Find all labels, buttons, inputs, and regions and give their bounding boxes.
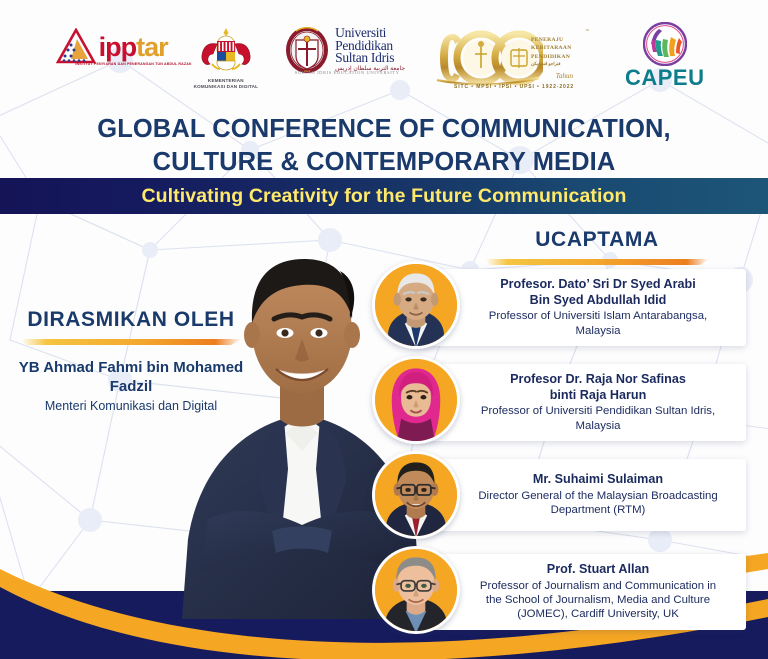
speaker-name: Mr. Suhaimi Sulaiman — [533, 472, 663, 488]
upsi-caption: SULTAN IDRIS EDUCATION UNIVERSITY — [284, 70, 410, 75]
opening-heading: DIRASMIKAN OLEH — [0, 308, 262, 332]
keynote-speaker-list: Profesor. Dato’ Sri Dr Syed Arabi Bin Sy… — [368, 261, 768, 641]
speaker-affiliation: Professor of Universiti Pendidikan Sulta… — [481, 404, 715, 433]
conference-poster: ipptar INSTITUT PENYIARAN DAN PENERANGAN… — [0, 0, 768, 659]
ministry-of-communications-and-digital-logo: KEMENTERIAN KOMUNIKASI DAN DIGITAL — [194, 22, 259, 90]
centenary-100-logo: PENERAJU KEBITARAAN PENDIDIKAN فنراجو ڤن… — [431, 22, 591, 100]
title-line-2: CULTURE & CONTEMPORARY MEDIA — [0, 146, 768, 179]
centenary-tahun-text: Tahun — [556, 72, 573, 80]
jata-negara-crest-icon — [195, 24, 257, 76]
speaker-name: Profesor Dr. Raja Nor Safinas binti Raja… — [510, 372, 686, 403]
centenary-jawi-text: فنراجو ڤنديديکن — [531, 61, 587, 68]
upsi-crest-icon: 1922 — [284, 26, 330, 74]
speaker-name: Prof. Stuart Allan — [547, 562, 649, 578]
opening-person-role: Menteri Komunikasi dan Digital — [0, 399, 262, 413]
upsi-logo: 1922 Universiti Pendidikan Sultan Idris … — [284, 22, 405, 74]
speaker-photo-raja-nor-safinas — [372, 356, 460, 444]
speaker-card: Profesor Dr. Raja Nor Safinas binti Raja… — [416, 364, 746, 441]
logo-strip: ipptar INSTITUT PENYIARAN DAN PENERANGAN… — [0, 22, 768, 108]
speaker-row: Mr. Suhaimi Sulaiman Director General of… — [368, 451, 768, 546]
capeu-emblem-icon — [643, 22, 687, 66]
opening-heading-underline — [20, 339, 242, 345]
speaker-photo-stuart-allan — [372, 546, 460, 634]
capeu-logo: CAPEU CENTRE FOR ACADEMIC EXCELLENCE MAL… — [617, 22, 712, 94]
speaker-photo-suhaimi-sulaiman — [372, 451, 460, 539]
main-content: DIRASMIKAN OLEH YB Ahmad Fahmi bin Moham… — [0, 214, 768, 659]
ipptar-logo: ipptar INSTITUT PENYIARAN DAN PENERANGAN… — [56, 22, 168, 66]
opening-person-name: YB Ahmad Fahmi bin Mohamed Fadzil — [0, 358, 262, 396]
speaker-card: Prof. Stuart Allan Professor of Journali… — [416, 554, 746, 630]
speaker-name: Profesor. Dato’ Sri Dr Syed Arabi Bin Sy… — [500, 277, 696, 308]
opening-section: DIRASMIKAN OLEH YB Ahmad Fahmi bin Moham… — [0, 308, 262, 413]
page-title: GLOBAL CONFERENCE OF COMMUNICATION, CULT… — [0, 113, 768, 178]
centenary-tagline: PENERAJU KEBITARAAN PENDIDIKAN فنراجو ڤن… — [531, 36, 587, 68]
centenary-years: SITC • MPSI • IPSI • UPSI • 1922-2022 — [439, 84, 589, 90]
ipptar-triangle-icon — [56, 28, 96, 66]
speaker-affiliation: Director General of the Malaysian Broadc… — [478, 489, 717, 518]
capeu-wordmark: CAPEU — [625, 67, 705, 89]
speaker-photo-syed-arabi — [372, 261, 460, 349]
speaker-row: Profesor Dr. Raja Nor Safinas binti Raja… — [368, 356, 768, 451]
title-line-1: GLOBAL CONFERENCE OF COMMUNICATION, — [0, 113, 768, 146]
keynote-heading-text: UCAPTAMA — [442, 228, 752, 252]
speaker-row: Prof. Stuart Allan Professor of Journali… — [368, 546, 768, 641]
tagline-band: Cultivating Creativity for the Future Co… — [0, 178, 768, 214]
centenary-100-icon — [431, 28, 543, 90]
ipptar-caption: INSTITUT PENYIARAN DAN PENERANGAN TUN AB… — [58, 62, 210, 66]
ipptar-wordmark: ipptar — [99, 34, 168, 61]
tagline-text: Cultivating Creativity for the Future Co… — [141, 185, 626, 208]
trademark-icon: ™ — [585, 28, 589, 33]
speaker-row: Profesor. Dato’ Sri Dr Syed Arabi Bin Sy… — [368, 261, 768, 356]
speaker-card: Profesor. Dato’ Sri Dr Syed Arabi Bin Sy… — [416, 269, 746, 346]
upsi-wordmark: Universiti Pendidikan Sultan Idris جامعة… — [335, 27, 405, 72]
keynote-section-heading: UCAPTAMA — [442, 228, 752, 265]
speaker-affiliation: Professor of Journalism and Communicatio… — [480, 579, 716, 622]
speaker-affiliation: Professor of Universiti Islam Antarabang… — [489, 309, 707, 338]
speaker-card: Mr. Suhaimi Sulaiman Director General of… — [416, 459, 746, 531]
ministry-caption: KEMENTERIAN KOMUNIKASI DAN DIGITAL — [194, 78, 259, 90]
